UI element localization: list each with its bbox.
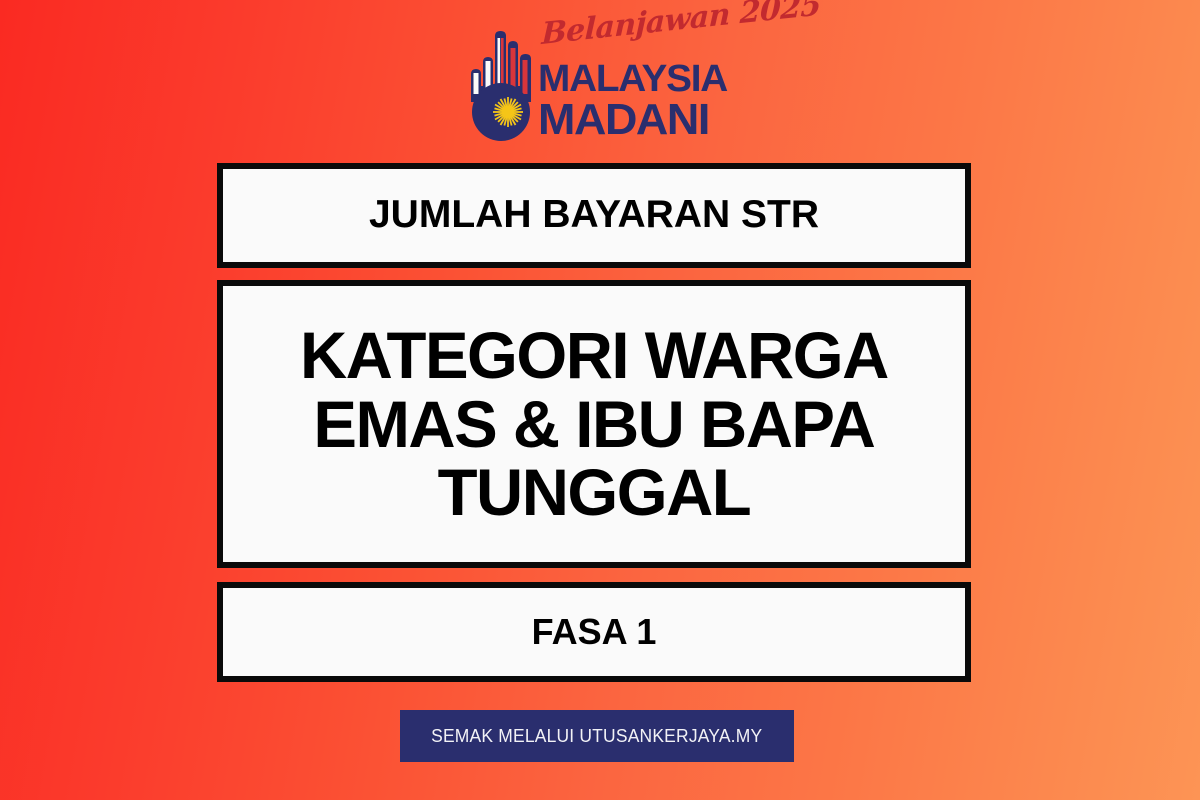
panel-main-line-1: KATEGORI WARGA	[300, 321, 888, 390]
panel-kategori: KATEGORI WARGA EMAS & IBU BAPA TUNGGAL	[217, 280, 971, 568]
budget-year-script-label: Belanjawan 2025	[541, 0, 821, 50]
logo-wordmark: Belanjawan 2025 MALAYSIA MADANI	[536, 18, 741, 142]
footer-source-label: SEMAK MELALUI UTUSANKERJAYA.MY	[431, 726, 762, 747]
poster-canvas: Belanjawan 2025 MALAYSIA MADANI JUMLAH B…	[0, 0, 1200, 800]
panel-main-line-2: EMAS & IBU BAPA	[300, 390, 888, 459]
brand-line-malaysia: MALAYSIA	[538, 60, 727, 98]
panel-main-label: KATEGORI WARGA EMAS & IBU BAPA TUNGGAL	[286, 321, 902, 527]
panel-phase-label: FASA 1	[518, 613, 671, 650]
panel-jumlah-bayaran: JUMLAH BAYARAN STR	[217, 163, 971, 268]
panel-fasa: FASA 1	[217, 582, 971, 682]
malaysia-madani-mark-icon	[466, 26, 544, 142]
brand-line-madani: MADANI	[538, 98, 709, 142]
panel-header-label: JUMLAH BAYARAN STR	[355, 195, 833, 236]
footer-source-banner[interactable]: SEMAK MELALUI UTUSANKERJAYA.MY	[400, 710, 794, 762]
malaysia-madani-logo: Belanjawan 2025 MALAYSIA MADANI	[466, 18, 738, 142]
panel-main-line-3: TUNGGAL	[300, 458, 888, 527]
